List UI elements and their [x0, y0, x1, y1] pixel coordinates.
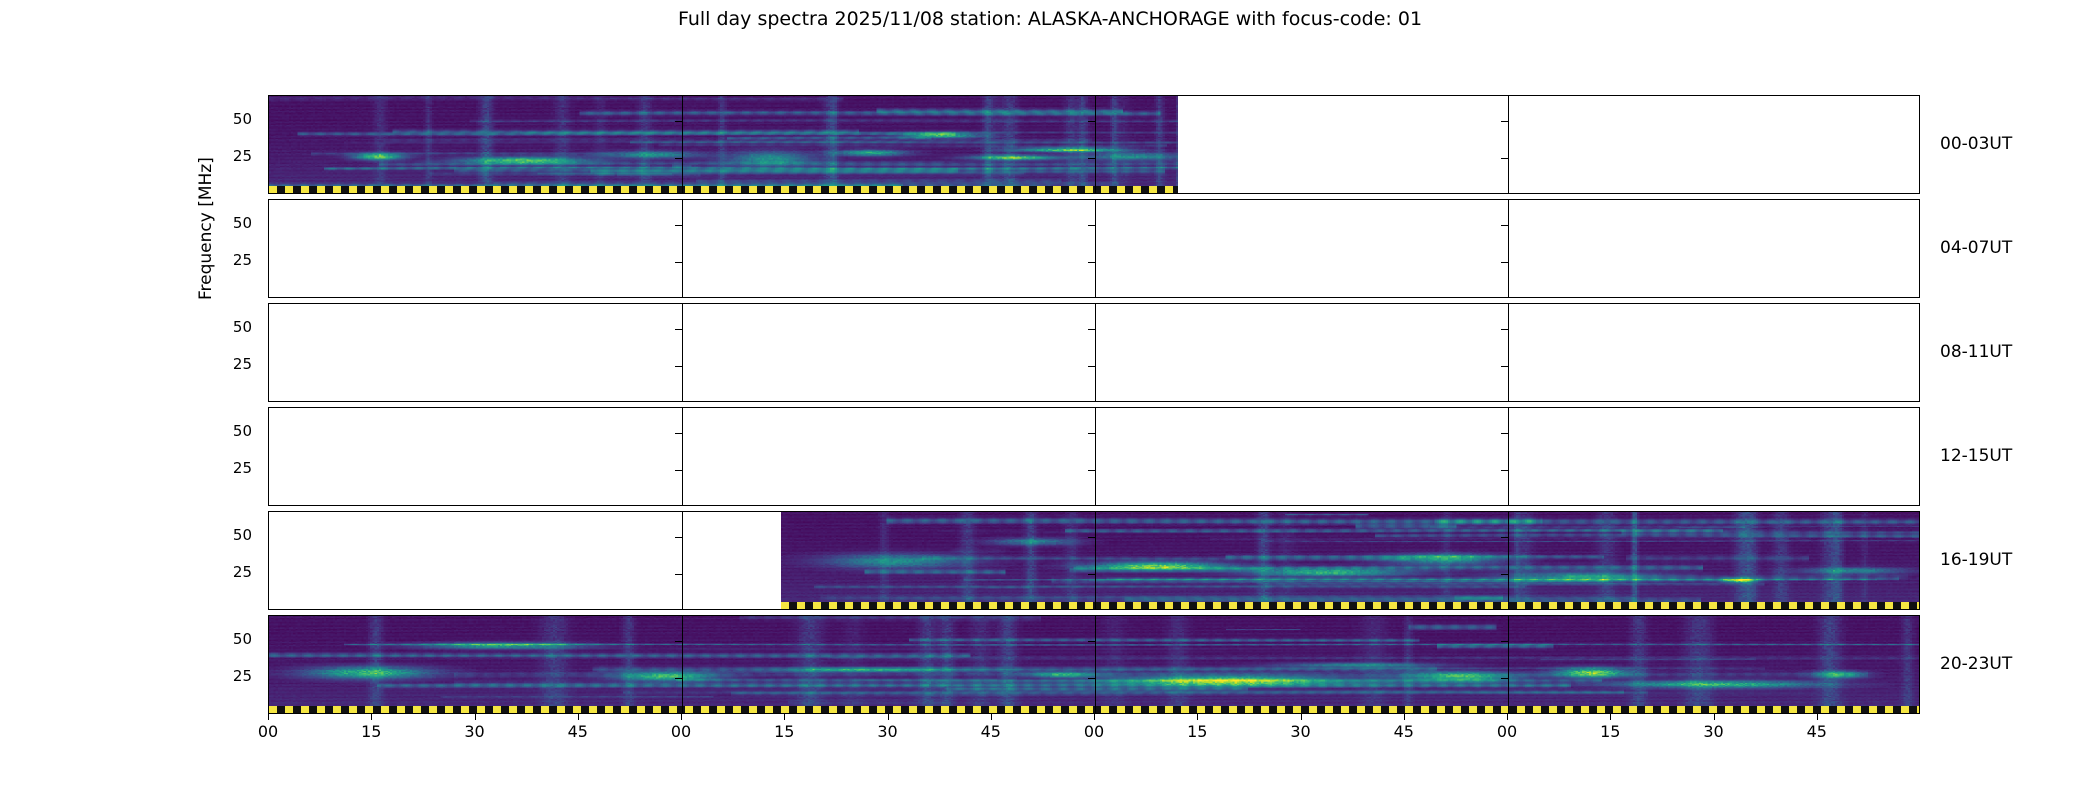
y-tick-inner [675, 433, 682, 434]
data-baseline-marker [781, 602, 1920, 609]
x-tick [784, 714, 785, 720]
y-tick-inner [1501, 433, 1508, 434]
hour-separator [1508, 304, 1509, 401]
y-tick-inner [675, 574, 682, 575]
row-label-16-19ut: 16-19UT [1940, 550, 2012, 570]
y-tick [268, 433, 269, 434]
hour-separator [1095, 408, 1096, 505]
y-tick-inner [675, 641, 682, 642]
row-label-20-23ut: 20-23UT [1940, 654, 2012, 674]
y-tick-label: 50 [192, 318, 252, 336]
y-tick-inner [1088, 262, 1095, 263]
hour-separator [682, 616, 683, 713]
y-tick-label: 25 [192, 563, 252, 581]
y-tick-inner [1088, 433, 1095, 434]
hour-separator [1508, 200, 1509, 297]
y-tick-inner [1501, 225, 1508, 226]
y-tick-label: 50 [192, 110, 252, 128]
x-tick-label: 15 [1600, 722, 1620, 741]
hour-separator [1095, 616, 1096, 713]
x-tick [1610, 714, 1611, 720]
hour-separator [682, 408, 683, 505]
y-tick [268, 470, 269, 471]
hour-separator [1508, 616, 1509, 713]
x-tick-label: 15 [361, 722, 381, 741]
y-tick [268, 641, 269, 642]
y-tick-label: 25 [192, 251, 252, 269]
y-tick-label: 25 [192, 459, 252, 477]
y-tick-inner [1501, 262, 1508, 263]
row-label-04-07ut: 04-07UT [1940, 238, 2012, 258]
y-tick-inner [1501, 641, 1508, 642]
x-tick [1714, 714, 1715, 720]
spectrogram-panel-20-23ut[interactable] [268, 615, 1920, 714]
hour-separator [1095, 512, 1096, 609]
spectrogram-data [269, 96, 1178, 193]
hour-separator [682, 304, 683, 401]
x-tick [1817, 714, 1818, 720]
y-tick-inner [675, 366, 682, 367]
y-tick-inner [1088, 329, 1095, 330]
y-tick-inner [675, 537, 682, 538]
x-tick [681, 714, 682, 720]
y-tick-inner [675, 225, 682, 226]
x-tick [1094, 714, 1095, 720]
x-tick [888, 714, 889, 720]
x-tick [991, 714, 992, 720]
x-tick-label: 15 [774, 722, 794, 741]
x-tick-label: 45 [1807, 722, 1827, 741]
y-tick-label: 50 [192, 526, 252, 544]
y-tick [268, 225, 269, 226]
x-tick-label: 15 [1187, 722, 1207, 741]
y-tick-inner [1088, 641, 1095, 642]
x-tick-label: 00 [1497, 722, 1517, 741]
row-label-08-11ut: 08-11UT [1940, 342, 2012, 362]
y-tick-label: 25 [192, 355, 252, 373]
spectrogram-panel-12-15ut[interactable] [268, 407, 1920, 506]
hour-separator [682, 200, 683, 297]
spectrogram-figure: Full day spectra 2025/11/08 station: ALA… [0, 0, 2100, 800]
y-tick-inner [1501, 537, 1508, 538]
x-tick [371, 714, 372, 720]
y-tick-label: 50 [192, 422, 252, 440]
y-tick-inner [675, 262, 682, 263]
x-tick-label: 30 [877, 722, 897, 741]
y-tick [268, 366, 269, 367]
hour-separator [1508, 512, 1509, 609]
x-tick [268, 714, 269, 720]
y-tick-inner [1501, 329, 1508, 330]
y-tick-inner [675, 158, 682, 159]
y-tick-label: 50 [192, 214, 252, 232]
hour-separator [1095, 200, 1096, 297]
y-tick-inner [1501, 158, 1508, 159]
row-label-00-03ut: 00-03UT [1940, 134, 2012, 154]
y-tick [268, 537, 269, 538]
y-tick-inner [1501, 121, 1508, 122]
y-tick-inner [1501, 366, 1508, 367]
y-tick-inner [675, 678, 682, 679]
spectrogram-data [781, 512, 1920, 609]
x-tick-label: 45 [1394, 722, 1414, 741]
y-tick-inner [1088, 366, 1095, 367]
y-tick-inner [1501, 574, 1508, 575]
x-tick [578, 714, 579, 720]
row-label-12-15ut: 12-15UT [1940, 446, 2012, 466]
y-tick-inner [1088, 574, 1095, 575]
x-tick-label: 00 [671, 722, 691, 741]
y-tick [268, 678, 269, 679]
y-tick [268, 262, 269, 263]
y-tick [268, 329, 269, 330]
y-tick-inner [675, 470, 682, 471]
y-tick [268, 121, 269, 122]
y-tick-inner [1088, 678, 1095, 679]
hour-separator [1508, 96, 1509, 193]
x-tick-label: 30 [1290, 722, 1310, 741]
spectrogram-panel-08-11ut[interactable] [268, 303, 1920, 402]
spectrogram-panel-00-03ut[interactable] [268, 95, 1920, 194]
y-tick-inner [1501, 678, 1508, 679]
y-tick-inner [1501, 470, 1508, 471]
x-tick-label: 30 [1703, 722, 1723, 741]
x-tick-label: 00 [1084, 722, 1104, 741]
hour-separator [1508, 408, 1509, 505]
y-tick [268, 574, 269, 575]
page-title: Full day spectra 2025/11/08 station: ALA… [0, 8, 2100, 30]
x-tick-label: 00 [258, 722, 278, 741]
x-tick-label: 30 [464, 722, 484, 741]
y-tick-inner [1088, 158, 1095, 159]
hour-separator [682, 96, 683, 193]
y-tick-inner [675, 121, 682, 122]
data-baseline-marker [269, 186, 1178, 193]
y-tick [268, 158, 269, 159]
x-tick [1507, 714, 1508, 720]
hour-separator [1095, 304, 1096, 401]
y-tick-label: 25 [192, 667, 252, 685]
y-tick-inner [1088, 121, 1095, 122]
spectrogram-panel-16-19ut[interactable] [268, 511, 1920, 610]
y-tick-label: 50 [192, 630, 252, 648]
y-tick-inner [1088, 470, 1095, 471]
y-tick-inner [1088, 225, 1095, 226]
hour-separator [682, 512, 683, 609]
x-tick-label: 45 [981, 722, 1001, 741]
hour-separator [1095, 96, 1096, 193]
y-tick-label: 25 [192, 147, 252, 165]
y-tick-inner [675, 329, 682, 330]
x-tick [1301, 714, 1302, 720]
x-tick [1197, 714, 1198, 720]
x-tick-label: 45 [568, 722, 588, 741]
spectrogram-panel-04-07ut[interactable] [268, 199, 1920, 298]
x-tick [475, 714, 476, 720]
y-tick-inner [1088, 537, 1095, 538]
x-tick [1404, 714, 1405, 720]
